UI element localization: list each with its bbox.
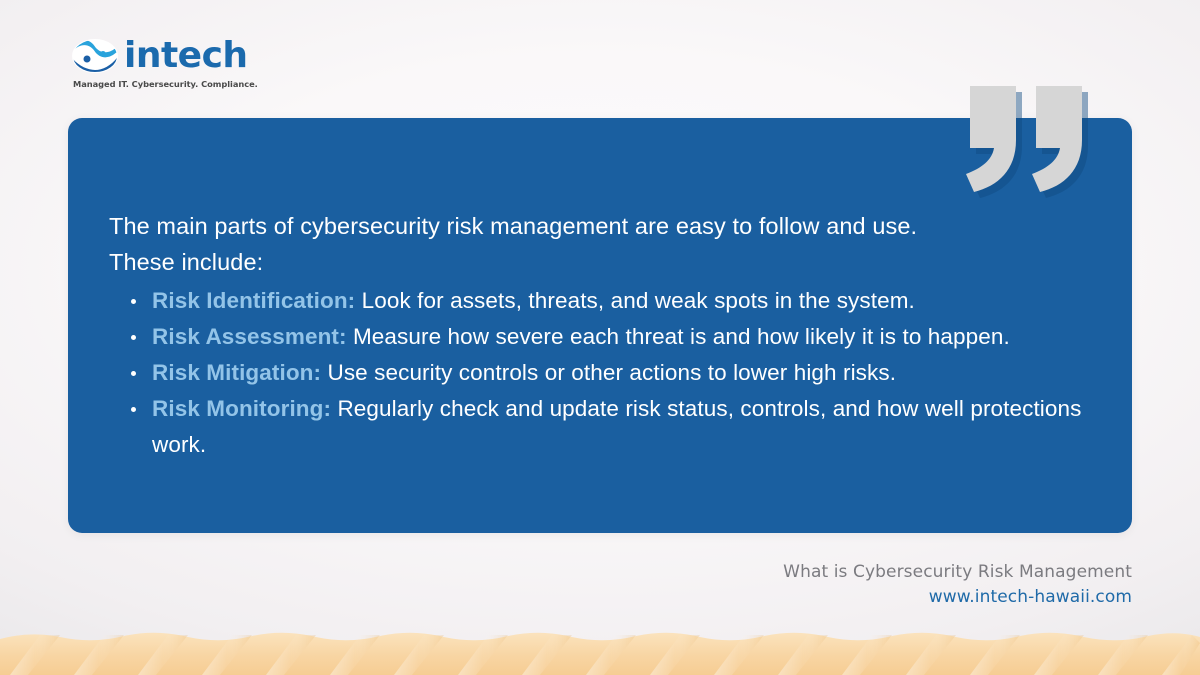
card-body: The main parts of cybersecurity risk man… <box>109 208 1088 463</box>
point-text: Use security controls or other actions t… <box>327 360 896 385</box>
footer-title: What is Cybersecurity Risk Management <box>612 560 1132 585</box>
list-item: Risk Mitigation: Use security controls o… <box>109 355 1088 391</box>
point-text: Measure how severe each threat is and ho… <box>353 324 1010 349</box>
intech-wave-logo-icon <box>72 39 118 73</box>
list-item: Risk Assessment: Measure how severe each… <box>109 319 1088 355</box>
lede-line-1: The main parts of cybersecurity risk man… <box>109 213 917 239</box>
risk-points-list: Risk Identification: Look for assets, th… <box>109 283 1088 463</box>
point-label: Risk Assessment: <box>152 324 347 349</box>
bottom-decorative-strip <box>0 627 1200 675</box>
footer: What is Cybersecurity Risk Management ww… <box>612 560 1132 610</box>
content-card: The main parts of cybersecurity risk man… <box>68 118 1132 533</box>
point-label: Risk Identification: <box>152 288 355 313</box>
point-text: Look for assets, threats, and weak spots… <box>362 288 915 313</box>
lede-paragraph: The main parts of cybersecurity risk man… <box>109 208 1088 280</box>
logo-row: intech <box>72 36 312 76</box>
brand-logo[interactable]: intech Managed IT. Cybersecurity. Compli… <box>72 36 312 94</box>
lede-line-2: These include: <box>109 249 263 275</box>
footer-url-link[interactable]: www.intech-hawaii.com <box>612 585 1132 610</box>
list-item: Risk Identification: Look for assets, th… <box>109 283 1088 319</box>
brand-name: intech <box>124 38 248 74</box>
point-label: Risk Monitoring: <box>152 396 331 421</box>
list-item: Risk Monitoring: Regularly check and upd… <box>109 391 1088 463</box>
brand-tagline: Managed IT. Cybersecurity. Compliance. <box>73 79 312 89</box>
slide-canvas: intech Managed IT. Cybersecurity. Compli… <box>0 0 1200 675</box>
point-label: Risk Mitigation: <box>152 360 321 385</box>
